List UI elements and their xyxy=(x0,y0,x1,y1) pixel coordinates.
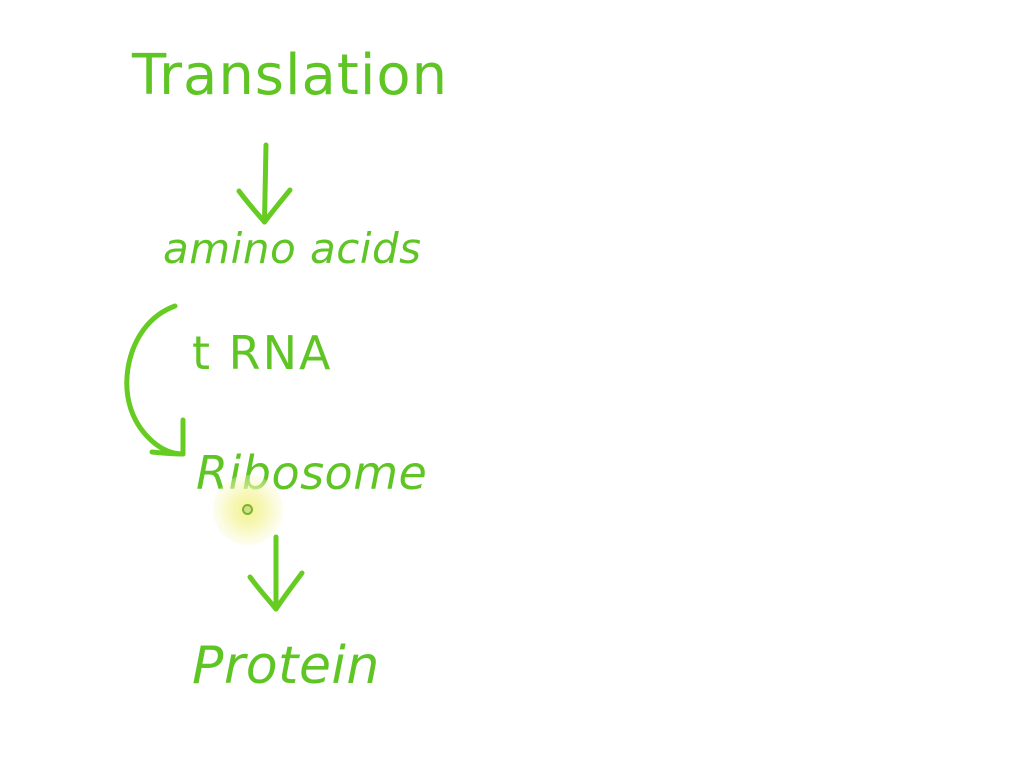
ink-layer xyxy=(0,0,1024,768)
diagram-label-amino-acids: amino acids xyxy=(163,228,422,270)
diagram-label-translation: Translation xyxy=(132,48,448,104)
arrow-translation-to-amino-acids-icon xyxy=(239,145,290,222)
diagram-label-protein: Protein xyxy=(192,640,380,692)
whiteboard-canvas[interactable]: Translation amino acids t RNA Ribosome P… xyxy=(0,0,1024,768)
arrow-ribosome-to-protein-icon xyxy=(250,537,302,609)
arrow-trna-to-ribosome-icon xyxy=(127,306,183,454)
diagram-label-trna: t RNA xyxy=(192,330,333,376)
pen-cursor-dot[interactable] xyxy=(242,504,253,515)
